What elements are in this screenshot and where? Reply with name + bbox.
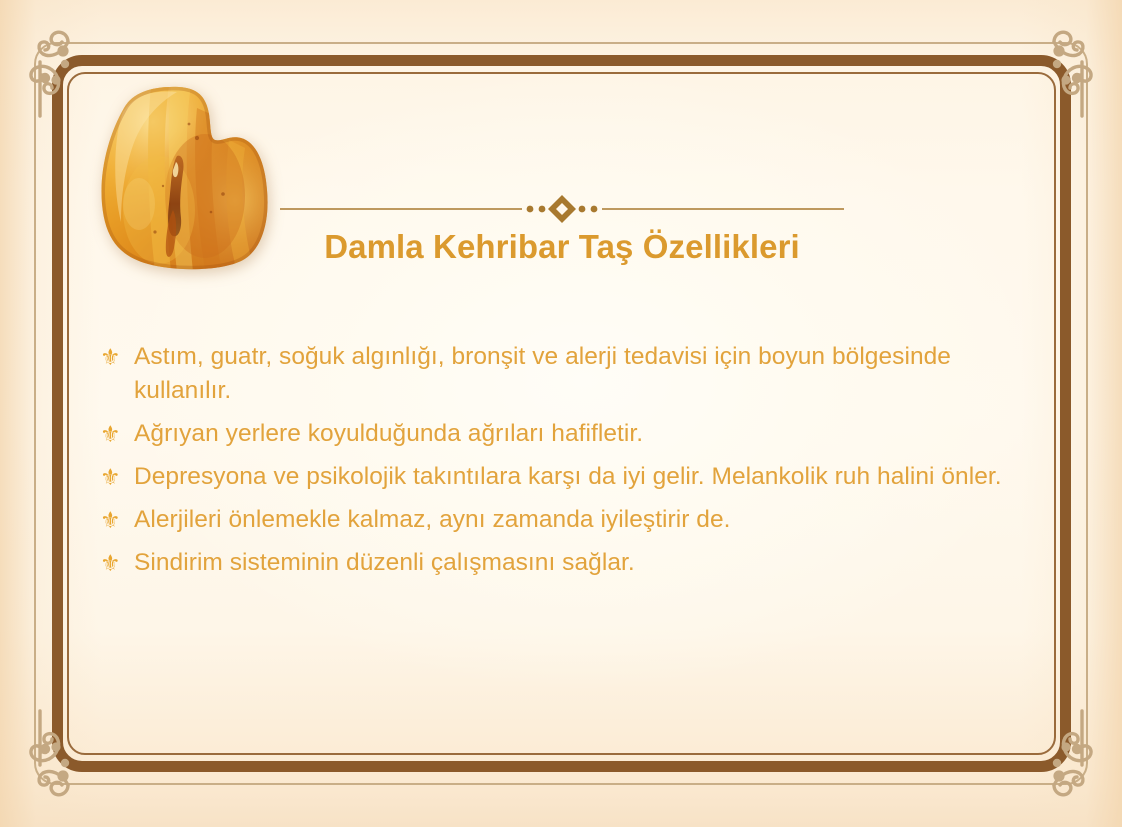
amber-stone-info-card: Damla Kehribar Taş Özellikleri ⚜ Astım, …: [0, 0, 1122, 827]
list-item: ⚜ Ağrıyan yerlere koyulduğunda ağrıları …: [100, 417, 1027, 451]
corner-flourish-bottom-left-icon: [16, 693, 134, 811]
diamond-flourish-divider-icon: [272, 192, 852, 226]
list-item: ⚜ Alerjileri önlemekle kalmaz, aynı zama…: [100, 503, 1027, 537]
list-item-text: Sindirim sisteminin düzenli çalışmasını …: [134, 546, 1027, 580]
list-item: ⚜ Astım, guatr, soğuk algınlığı, bronşit…: [100, 340, 1027, 408]
fleur-de-lis-bullet-icon: ⚜: [100, 503, 134, 537]
list-item-text: Astım, guatr, soğuk algınlığı, bronşit v…: [134, 340, 1027, 408]
amber-stone-image: [93, 78, 275, 276]
fleur-de-lis-bullet-icon: ⚜: [100, 340, 134, 374]
list-item-text: Depresyona ve psikolojik takıntılara kar…: [134, 460, 1027, 494]
page-title: Damla Kehribar Taş Özellikleri: [272, 228, 852, 266]
header: Damla Kehribar Taş Özellikleri: [272, 192, 852, 266]
fleur-de-lis-bullet-icon: ⚜: [100, 460, 134, 494]
corner-flourish-top-right-icon: [988, 16, 1106, 134]
corner-flourish-bottom-right-icon: [988, 693, 1106, 811]
fleur-de-lis-bullet-icon: ⚜: [100, 546, 134, 580]
properties-list: ⚜ Astım, guatr, soğuk algınlığı, bronşit…: [100, 340, 1027, 589]
list-item-text: Ağrıyan yerlere koyulduğunda ağrıları ha…: [134, 417, 1027, 451]
list-item: ⚜ Sindirim sisteminin düzenli çalışmasın…: [100, 546, 1027, 580]
list-item: ⚜ Depresyona ve psikolojik takıntılara k…: [100, 460, 1027, 494]
list-item-text: Alerjileri önlemekle kalmaz, aynı zamand…: [134, 503, 1027, 537]
fleur-de-lis-bullet-icon: ⚜: [100, 417, 134, 451]
